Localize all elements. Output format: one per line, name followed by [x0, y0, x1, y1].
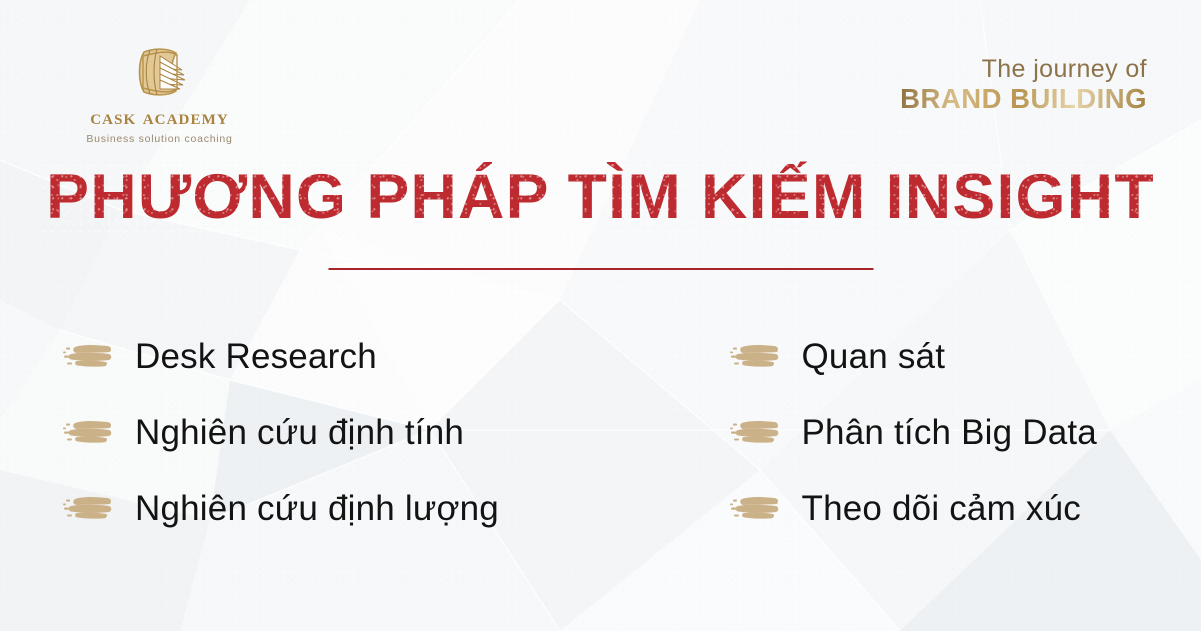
brush-stroke-icon — [729, 341, 783, 371]
brush-stroke-icon — [62, 417, 116, 447]
logo-block[interactable]: CASK ACADEMY Business solution coaching — [52, 44, 267, 145]
list-item[interactable]: Nghiên cứu định lượng — [62, 470, 601, 546]
list-item-label: Nghiên cứu định lượng — [135, 491, 499, 526]
logo-name: CASK ACADEMY — [52, 106, 267, 129]
brush-stroke-icon — [729, 493, 783, 523]
list-item-label: Phân tích Big Data — [802, 415, 1097, 450]
page-title-text: PHƯƠNG PHÁP TÌM KIẾM INSIGHT — [46, 166, 1155, 229]
list-item[interactable]: Theo dõi cảm xúc — [729, 470, 1201, 546]
logo-tagline: Business solution coaching — [52, 133, 267, 145]
list-item-label: Nghiên cứu định tính — [135, 415, 464, 450]
brush-stroke-icon — [729, 417, 783, 447]
brand-line-journey: The journey of — [900, 56, 1147, 84]
brush-stroke-icon — [62, 493, 116, 523]
list-item[interactable]: Quan sát — [729, 318, 1201, 394]
slide-canvas: CASK ACADEMY Business solution coaching … — [0, 0, 1201, 631]
page-title: PHƯƠNG PHÁP TÌM KIẾM INSIGHT — [0, 166, 1201, 229]
list-item-label: Quan sát — [802, 339, 946, 374]
cask-barrel-icon — [130, 44, 190, 100]
methods-columns: Desk Research Nghi — [0, 318, 1201, 546]
list-item[interactable]: Desk Research — [62, 318, 601, 394]
title-divider — [328, 268, 873, 270]
brand-block: The journey of BRAND BUILDING — [900, 56, 1147, 113]
list-item-label: Theo dõi cảm xúc — [802, 491, 1081, 526]
brand-line-building: BRAND BUILDING — [900, 85, 1147, 114]
methods-column-left: Desk Research Nghi — [0, 318, 601, 546]
list-item[interactable]: Phân tích Big Data — [729, 394, 1201, 470]
brush-stroke-icon — [62, 341, 116, 371]
list-item[interactable]: Nghiên cứu định tính — [62, 394, 601, 470]
list-item-label: Desk Research — [135, 339, 377, 374]
methods-column-right: Quan sát Phân tích — [601, 318, 1201, 546]
